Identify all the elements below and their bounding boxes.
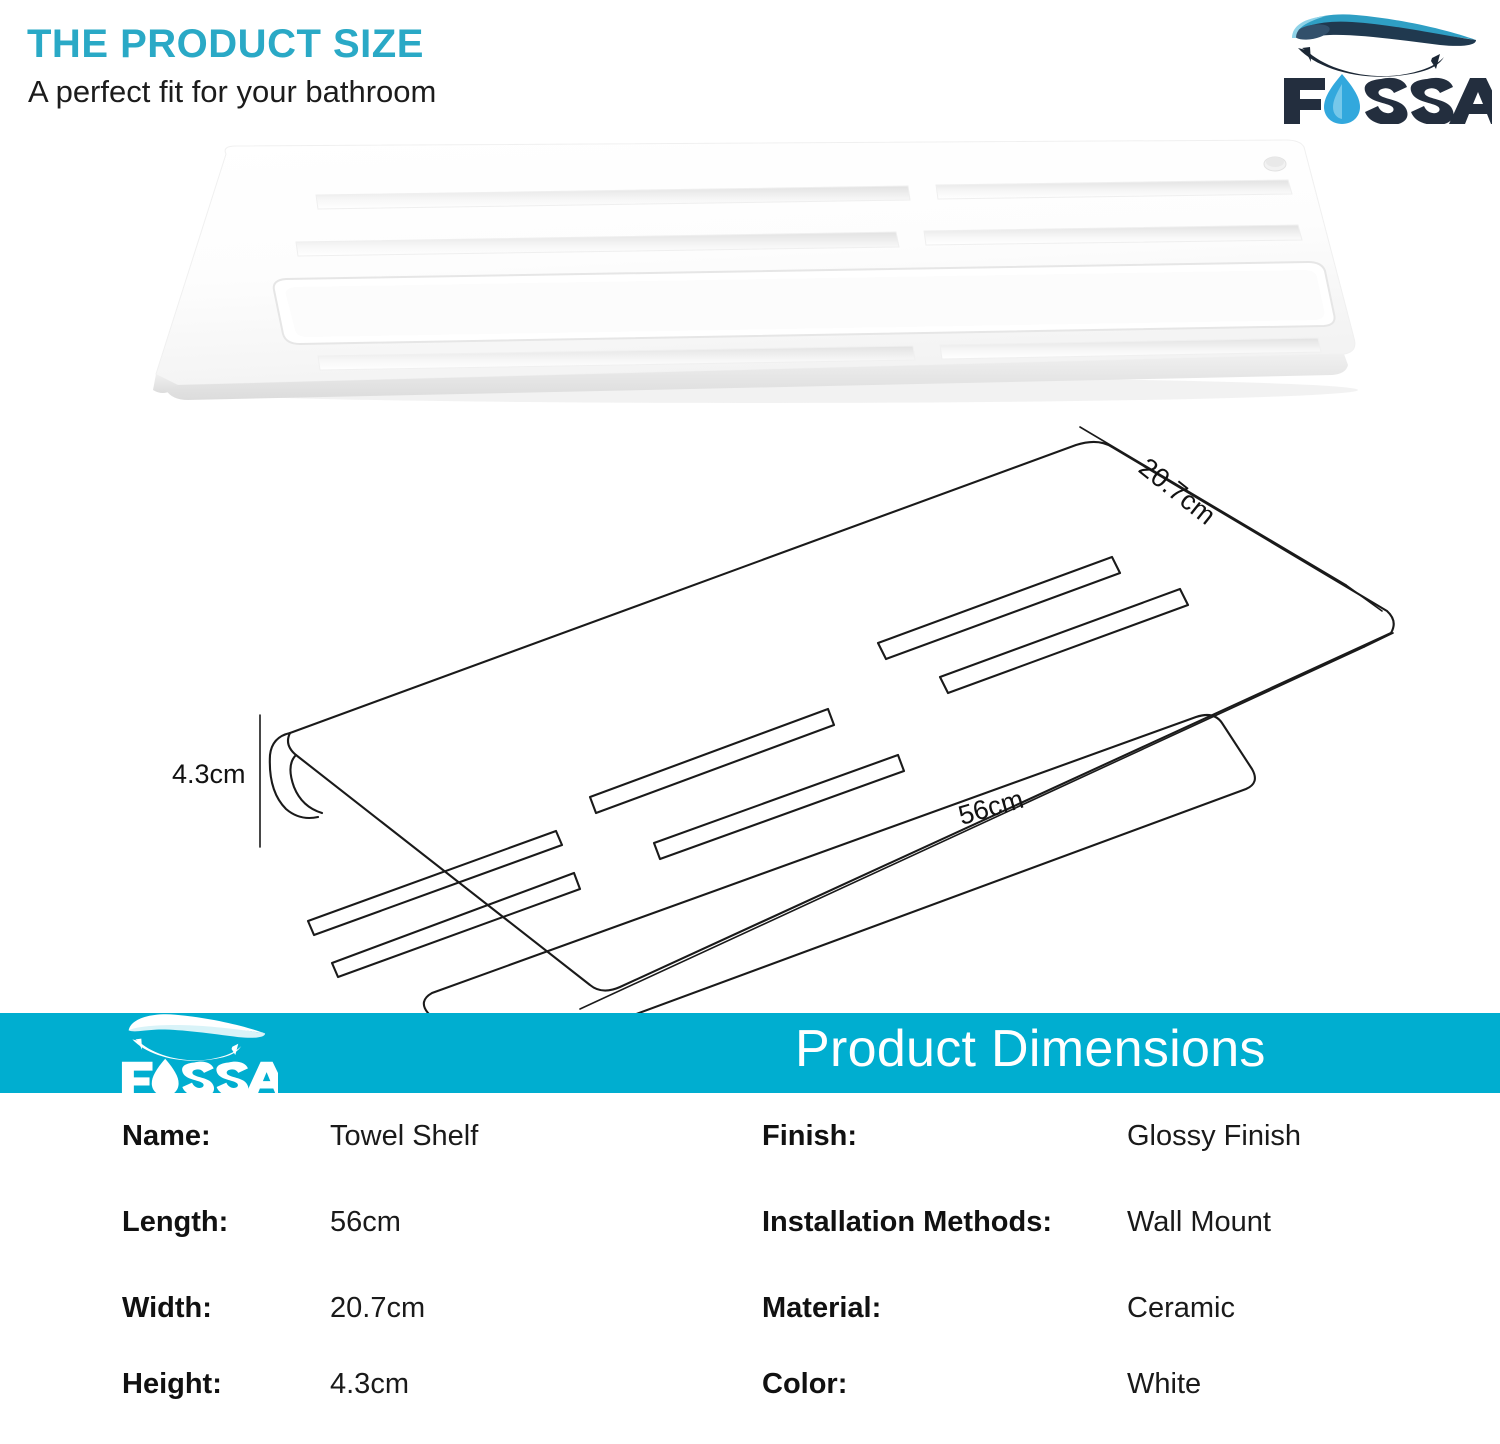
shelf-slot: [332, 873, 580, 977]
spec-label-text: Length: [122, 1206, 219, 1238]
table-row: Height: 4.3cm Color: White: [0, 1348, 1500, 1420]
spec-value-height: 4.3cm: [330, 1348, 409, 1420]
product-specifications-table: Name: Towel Shelf Finish: Glossy Finish …: [0, 1100, 1500, 1430]
bathtub-underside: [1298, 48, 1444, 77]
spec-value-color: White: [1127, 1348, 1201, 1420]
spec-label-text: Height: [122, 1368, 212, 1400]
spec-label-text: Finish: [762, 1120, 847, 1152]
spec-label-finish: Finish:: [762, 1100, 857, 1172]
shelf-slot: [940, 589, 1188, 693]
spec-label-width: Width:: [122, 1272, 212, 1344]
spec-label-text: Material: [762, 1292, 872, 1324]
table-row: Name: Towel Shelf Finish: Glossy Finish: [0, 1100, 1500, 1172]
spec-value-material: Ceramic: [1127, 1272, 1235, 1344]
spec-label-color: Color:: [762, 1348, 847, 1420]
banner-title: Product Dimensions: [795, 1019, 1266, 1079]
shelf-front-lip: [270, 733, 318, 818]
spec-colon: :: [201, 1120, 211, 1152]
shelf-outline-top: [288, 442, 1394, 991]
shelf-large-cutout: [424, 715, 1255, 1015]
shelf-slot: [308, 831, 562, 935]
spec-value-finish: Glossy Finish: [1127, 1100, 1301, 1172]
spec-label-name: Name:: [122, 1100, 211, 1172]
shelf-slot: [590, 709, 834, 813]
page-title: THE PRODUCT SIZE: [27, 22, 424, 67]
spec-value-installation-methods: Wall Mount: [1127, 1186, 1271, 1258]
spec-label-text: Name: [122, 1120, 201, 1152]
spec-colon: :: [219, 1206, 229, 1238]
spec-label-text: Width: [122, 1292, 202, 1324]
spec-colon: :: [847, 1120, 857, 1152]
product-photo: [118, 138, 1393, 408]
brand-wordmark: [122, 1062, 278, 1096]
spec-label-height: Height:: [122, 1348, 222, 1420]
spec-colon: :: [838, 1368, 848, 1400]
brand-logo: [1280, 6, 1492, 124]
bathtub-underside: [132, 1039, 241, 1060]
spec-colon: :: [212, 1368, 222, 1400]
spec-label-text: Installation Methods: [762, 1206, 1042, 1238]
spec-value-length: 56cm: [330, 1186, 401, 1258]
page-subtitle: A perfect fit for your bathroom: [28, 74, 436, 110]
table-row: Length: 56cm Installation Methods: Wall …: [0, 1186, 1500, 1258]
spec-label-installation-methods: Installation Methods:: [762, 1186, 1052, 1258]
spec-label-length: Length:: [122, 1186, 228, 1258]
table-row: Width: 20.7cm Material: Ceramic: [0, 1272, 1500, 1344]
spec-value-width: 20.7cm: [330, 1272, 425, 1344]
dimension-label-height: 4.3cm: [172, 759, 246, 790]
spec-colon: :: [1042, 1206, 1052, 1238]
dimension-line-width-tick: [1346, 585, 1382, 611]
mounting-hole-inner: [1266, 157, 1284, 167]
brand-logo-banner: [118, 1008, 278, 1096]
spec-colon: :: [202, 1292, 212, 1324]
spec-value-name: Towel Shelf: [330, 1100, 478, 1172]
water-droplet-icon: [152, 1059, 179, 1096]
brand-wordmark: [1284, 78, 1492, 124]
spec-label-material: Material:: [762, 1272, 881, 1344]
spec-colon: :: [872, 1292, 882, 1324]
spec-label-text: Color: [762, 1368, 838, 1400]
dimension-line-length-tick: [1364, 633, 1393, 647]
shelf-slot: [654, 755, 904, 859]
